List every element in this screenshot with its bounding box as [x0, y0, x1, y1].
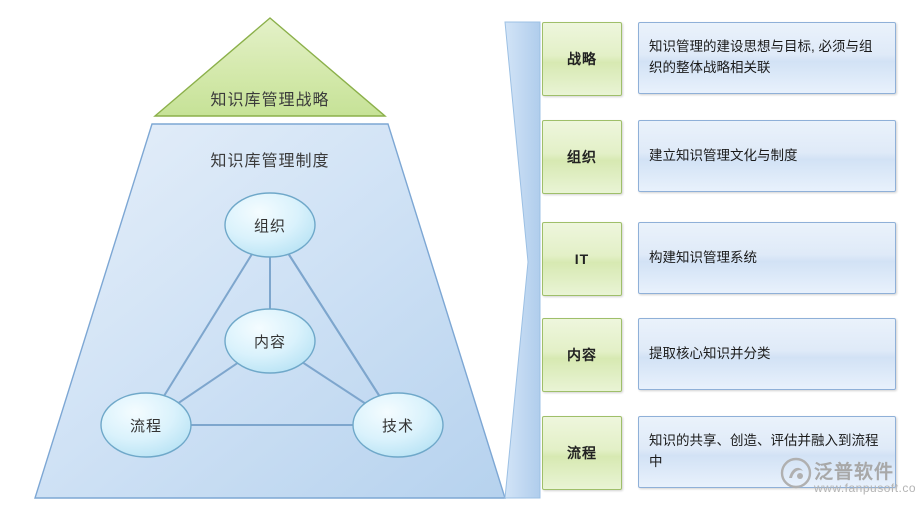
desc-box-it[interactable]: 构建知识管理系统 [638, 222, 896, 294]
watermark-url: www.fanpusoft.com [814, 481, 915, 495]
node-content[interactable] [225, 309, 315, 373]
pyramid-apex-label: 知识库管理战略 [150, 86, 390, 110]
watermark-name: 泛普软件 [814, 457, 894, 484]
desc-box-strategy[interactable]: 知识管理的建设思想与目标, 必须与组织的整体战略相关联 [638, 22, 896, 94]
key-box-it[interactable]: IT [542, 222, 622, 296]
node-technology[interactable] [353, 393, 443, 457]
connector-wedge [505, 22, 540, 498]
desc-box-organization[interactable]: 建立知识管理文化与制度 [638, 120, 896, 192]
node-organization[interactable] [225, 193, 315, 257]
node-process[interactable] [101, 393, 191, 457]
pyramid-body-label: 知识库管理制度 [140, 147, 400, 171]
diagram-canvas: 知识库管理战略 知识库管理制度 组织 内容 流程 技术 战略 知识管理的建设思想… [0, 0, 915, 512]
key-box-content[interactable]: 内容 [542, 318, 622, 392]
key-box-strategy[interactable]: 战略 [542, 22, 622, 96]
watermark: 泛普软件 www.fanpusoft.com [780, 455, 910, 505]
desc-box-content[interactable]: 提取核心知识并分类 [638, 318, 896, 390]
key-box-process[interactable]: 流程 [542, 416, 622, 490]
key-box-organization[interactable]: 组织 [542, 120, 622, 194]
company-logo-icon [780, 457, 812, 489]
